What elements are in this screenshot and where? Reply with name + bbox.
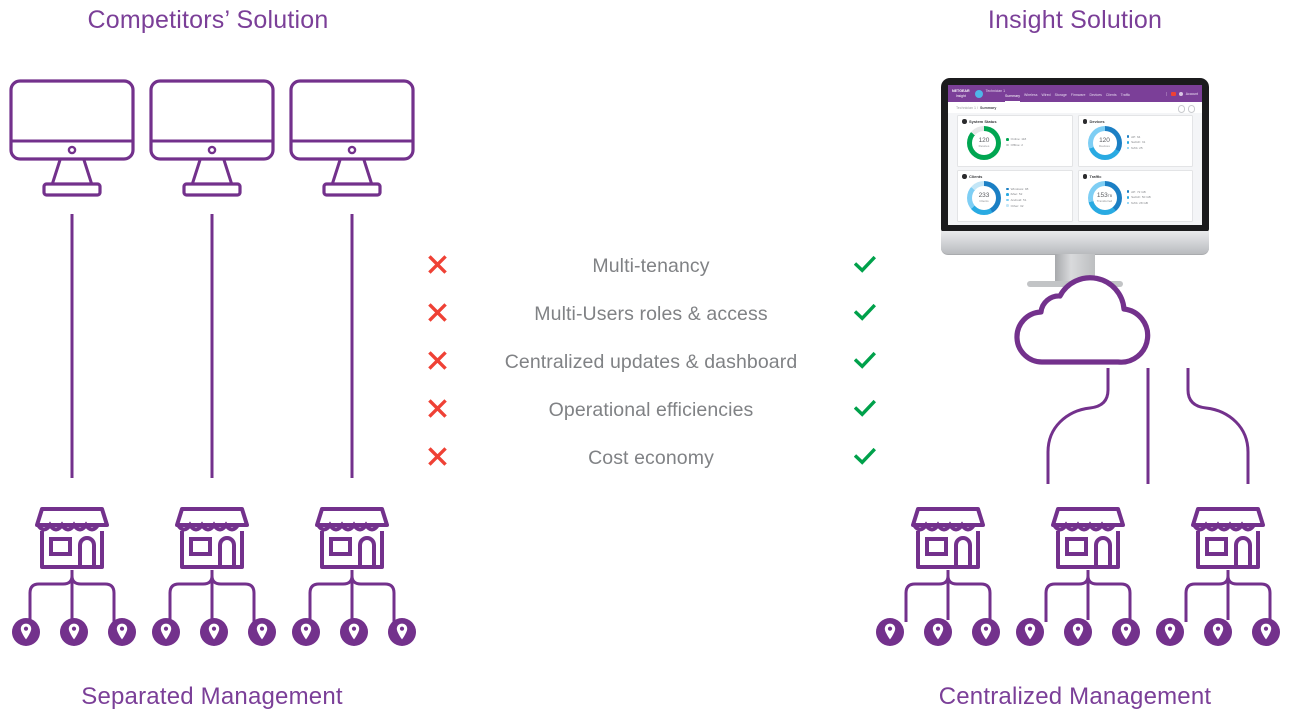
account-avatar-icon[interactable]	[975, 90, 983, 98]
legend-item: NAS: 28 GB	[1127, 201, 1151, 205]
status-dot-icon	[962, 119, 967, 124]
legend-label: Offline: 2	[1011, 143, 1023, 147]
feature-row: Operational efficiencies	[416, 386, 886, 434]
card-clients[interactable]: Clients 233 Clients	[957, 170, 1073, 222]
map-pin-icon	[12, 618, 40, 646]
feature-row: Multi-Users roles & access	[416, 290, 886, 338]
legend-item: Windows: 98	[1006, 187, 1028, 191]
map-pin-icon	[388, 618, 416, 646]
legend-item: AP: 64	[1127, 135, 1146, 139]
map-pin-icon	[876, 618, 904, 646]
user-menu-label[interactable]: Account	[1186, 92, 1198, 96]
storefront-icon	[314, 501, 390, 571]
card-legend: Windows: 98 iMac: 52 Android: 51	[1006, 187, 1028, 209]
legend-swatch	[1127, 202, 1130, 205]
legend-swatch	[1127, 141, 1130, 144]
page-title-competitors: Competitors’ Solution	[0, 6, 416, 35]
footer-label-separated: Separated Management	[0, 683, 424, 711]
legend-label: iMac: 52	[1011, 192, 1023, 196]
monitor-chin	[941, 231, 1209, 255]
legend-label: Online: 118	[1011, 137, 1027, 141]
map-pin-icon	[108, 618, 136, 646]
check-icon	[844, 255, 886, 278]
map-pin-icon	[340, 618, 368, 646]
tab-clients[interactable]: Clients	[1106, 93, 1117, 102]
brand-line-2: Insight	[952, 94, 970, 98]
legend-swatch	[1006, 144, 1009, 147]
storefront-icon	[1050, 501, 1126, 571]
tab-summary[interactable]: Summary	[1005, 94, 1020, 103]
legend-swatch	[1006, 199, 1009, 202]
map-pin-icon	[292, 618, 320, 646]
card-header: Clients	[962, 174, 1068, 179]
card-system-status[interactable]: System Status 120 Devices	[957, 115, 1073, 167]
legend-label: AP: 72 GB	[1131, 190, 1146, 194]
check-icon	[844, 447, 886, 470]
cross-icon	[416, 255, 458, 278]
account-selector[interactable]: Technician 1	[986, 89, 1005, 98]
cross-icon	[416, 399, 458, 422]
cross-icon	[416, 303, 458, 326]
tab-storage[interactable]: Storage	[1055, 93, 1067, 102]
legend-swatch	[1127, 147, 1130, 150]
storefront-icon	[174, 501, 250, 571]
legend-item: NAS: 25	[1127, 146, 1146, 150]
donut-center-text: 120 Devices	[967, 138, 1001, 148]
donut-center-text: 153TB Transferred	[1088, 193, 1122, 203]
help-icon[interactable]	[1178, 105, 1186, 113]
footer-label-centralized: Centralized Management	[886, 683, 1264, 711]
legend-label: Android: 51	[1011, 198, 1027, 202]
map-pin-icon	[1064, 618, 1092, 646]
insight-dashboard-monitor: NETGEAR Insight Technician 1 Summary Wir…	[941, 78, 1209, 266]
card-legend: AP: 72 GB Switch: 50 GB NAS: 28 GB	[1127, 190, 1151, 207]
desktop-monitor-icon	[288, 78, 416, 200]
legend-label: Windows: 98	[1011, 187, 1029, 191]
legend-label: AP: 64	[1131, 135, 1140, 139]
cloud-icon	[985, 258, 1165, 366]
desktop-monitor-icon	[148, 78, 276, 200]
legend-swatch	[1127, 135, 1130, 138]
legend-item: Switch: 50 GB	[1127, 195, 1151, 199]
page-title-insight: Insight Solution	[886, 6, 1264, 35]
status-dot-icon	[962, 174, 967, 179]
legend-swatch	[1127, 190, 1130, 193]
dashboard-tabs: Summary Wireless Wired Storage Firmware …	[1005, 85, 1166, 102]
legend-item: Offline: 2	[1006, 143, 1026, 147]
donut-center-text: 233 Clients	[967, 193, 1001, 203]
card-legend: AP: 64 Switch: 31 NAS: 25	[1127, 135, 1146, 152]
netgear-logo: NETGEAR Insight	[952, 89, 975, 98]
map-pin-icon	[152, 618, 180, 646]
map-pin-icon	[248, 618, 276, 646]
legend-swatch	[1006, 193, 1009, 196]
feature-row: Centralized updates & dashboard	[416, 338, 886, 386]
card-header: Traffic	[1083, 174, 1189, 179]
map-pin-icon	[200, 618, 228, 646]
card-body: 120 Devices Online: 118	[962, 126, 1068, 160]
breadcrumb-current: Summary	[980, 106, 996, 110]
feature-row: Multi-tenancy	[416, 242, 886, 290]
map-pin-icon	[1156, 618, 1184, 646]
check-icon	[844, 351, 886, 374]
donut-label: Devices	[967, 144, 1001, 148]
breadcrumb-root[interactable]: Technician 1 /	[956, 106, 978, 110]
legend-item: Android: 51	[1006, 198, 1028, 202]
feature-label: Multi-tenancy	[458, 255, 844, 278]
insight-branch-connectors	[876, 568, 1296, 624]
cross-icon	[416, 447, 458, 470]
legend-item: Switch: 31	[1127, 140, 1146, 144]
donut-value-number: 153	[1097, 192, 1108, 199]
legend-swatch	[1006, 188, 1009, 191]
card-title: Devices	[1090, 119, 1105, 124]
notifications-icon[interactable]	[1171, 92, 1176, 96]
dashboard-navbar: NETGEAR Insight Technician 1 Summary Wir…	[948, 85, 1202, 102]
map-pin-icon	[924, 618, 952, 646]
donut-center-text: 120 Devices	[1088, 138, 1122, 148]
card-title: System Status	[969, 119, 997, 124]
legend-label: Other: 32	[1011, 204, 1024, 208]
map-pin-icon	[1112, 618, 1140, 646]
monitor-bezel: NETGEAR Insight Technician 1 Summary Wir…	[941, 78, 1209, 232]
tab-firmware[interactable]: Firmware	[1071, 93, 1086, 102]
brand-line-1: NETGEAR	[952, 89, 970, 93]
map-pin-icon	[1016, 618, 1044, 646]
legend-label: Switch: 50 GB	[1131, 195, 1151, 199]
storefront-icon	[1190, 501, 1266, 571]
dashboard-screen: NETGEAR Insight Technician 1 Summary Wir…	[948, 85, 1202, 225]
card-title: Clients	[969, 174, 982, 179]
legend-swatch	[1006, 138, 1009, 141]
breadcrumb: Technician 1 / Summary	[948, 102, 1202, 113]
cross-icon	[416, 351, 458, 374]
legend-label: NAS: 28 GB	[1131, 201, 1148, 205]
donut-label: Clients	[967, 199, 1001, 203]
check-icon	[844, 303, 886, 326]
card-body: 153TB Transferred AP: 72 GB	[1083, 181, 1189, 215]
legend-item: Other: 32	[1006, 204, 1028, 208]
map-pin-icon	[1252, 618, 1280, 646]
navbar-actions: Account	[1166, 92, 1198, 96]
competitor-branch-connectors	[0, 568, 420, 624]
tab-devices[interactable]: Devices	[1089, 93, 1101, 102]
feature-label: Cost economy	[458, 447, 844, 470]
feature-comparison-list: Multi-tenancy Multi-Users roles & access…	[416, 242, 886, 482]
status-dot-icon	[1083, 174, 1088, 179]
card-body: 120 Devices AP: 64	[1083, 126, 1189, 160]
donut-chart: 233 Clients	[967, 181, 1001, 215]
diagram-canvas: Competitors’ Solution Insight Solution	[0, 0, 1296, 720]
feature-label: Centralized updates & dashboard	[458, 351, 844, 374]
donut-chart: 120 Devices	[1088, 126, 1122, 160]
card-body: 233 Clients Windows: 98	[962, 181, 1068, 215]
donut-value-unit: TB	[1108, 194, 1112, 198]
insight-trunk-connectors	[1032, 368, 1264, 495]
panel-actions	[1178, 105, 1196, 113]
legend-label: NAS: 25	[1131, 146, 1143, 150]
map-pin-icon	[1204, 618, 1232, 646]
user-icon[interactable]	[1179, 92, 1183, 96]
competitor-trunk-lines	[0, 210, 420, 482]
card-traffic[interactable]: Traffic 153TB Transferred	[1078, 170, 1194, 222]
map-pin-icon	[60, 618, 88, 646]
settings-icon[interactable]	[1188, 105, 1196, 113]
feature-label: Multi-Users roles & access	[458, 303, 844, 326]
storefront-icon	[34, 501, 110, 571]
storefront-icon	[910, 501, 986, 571]
check-icon	[844, 399, 886, 422]
donut-label: Transferred	[1088, 199, 1122, 203]
legend-swatch	[1127, 196, 1130, 199]
donut-label: Devices	[1088, 144, 1122, 148]
donut-chart: 153TB Transferred	[1088, 181, 1122, 215]
card-header: Devices	[1083, 119, 1189, 124]
legend-item: Online: 118	[1006, 137, 1026, 141]
desktop-monitor-icon	[8, 78, 136, 200]
tab-traffic[interactable]: Traffic	[1121, 93, 1131, 102]
card-title: Traffic	[1090, 174, 1102, 179]
card-legend: Online: 118 Offline: 2	[1006, 137, 1026, 148]
legend-label: Switch: 31	[1131, 140, 1145, 144]
competitor-monitors-group	[0, 78, 420, 200]
status-dot-icon	[1083, 119, 1088, 124]
dashboard-cards: System Status 120 Devices	[948, 113, 1202, 222]
tab-wired[interactable]: Wired	[1041, 93, 1050, 102]
card-devices[interactable]: Devices 120 Devices	[1078, 115, 1194, 167]
legend-item: iMac: 52	[1006, 192, 1028, 196]
feature-label: Operational efficiencies	[458, 399, 844, 422]
legend-item: AP: 72 GB	[1127, 190, 1151, 194]
map-pin-icon	[972, 618, 1000, 646]
tab-wireless[interactable]: Wireless	[1024, 93, 1037, 102]
feature-row: Cost economy	[416, 434, 886, 482]
donut-chart: 120 Devices	[967, 126, 1001, 160]
legend-swatch	[1006, 204, 1009, 207]
card-header: System Status	[962, 119, 1068, 124]
